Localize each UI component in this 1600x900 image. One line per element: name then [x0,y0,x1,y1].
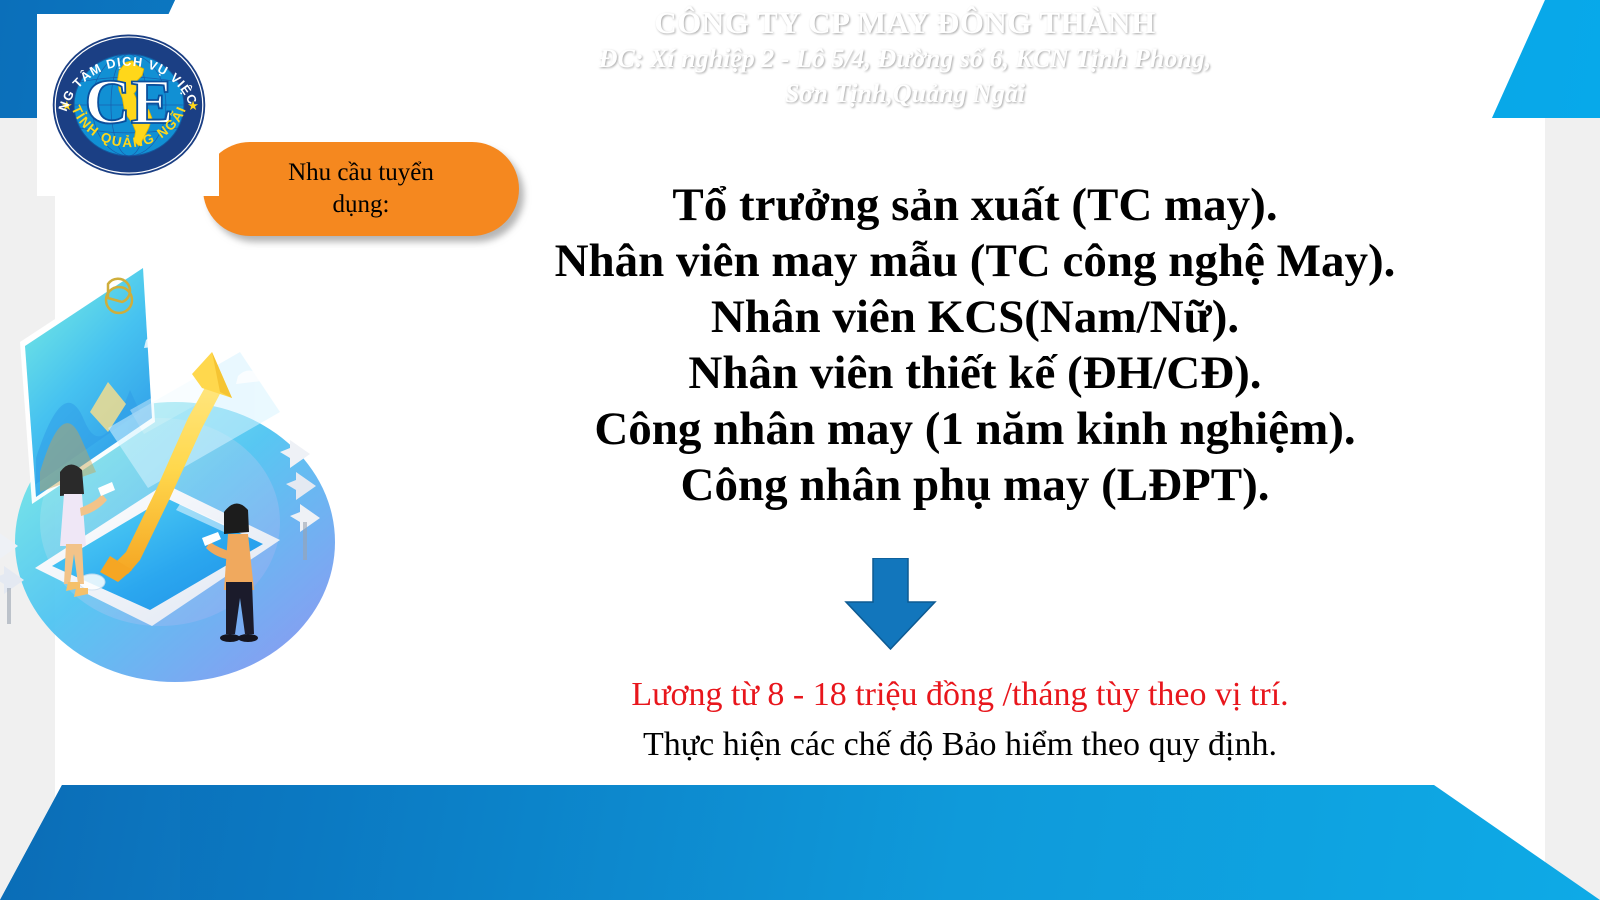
arrow-down-icon [843,558,938,650]
insurance-note: Thực hiện các chế độ Bảo hiểm theo quy đ… [380,722,1540,768]
salary-note: Lương từ 8 - 18 triệu đồng /tháng tùy th… [380,672,1540,718]
conditions-block: Lương từ 8 - 18 triệu đồng /tháng tùy th… [380,672,1540,768]
recruitment-poster: CÔNG TY CP MAY ĐÔNG THÀNH ĐC: Xí nghiệp … [0,0,1600,900]
recruitment-need-badge-label: Nhu cầu tuyển dụng: [270,157,452,221]
job-position-item: Tổ trưởng sản xuất (TC may). [400,178,1550,234]
isometric-growth-illustration [0,222,350,692]
company-name: CÔNG TY CP MAY ĐÔNG THÀNH [330,4,1480,41]
employment-center-logo-icon: CE ★ ★ TRUNG TÂM DỊCH VỤ VIỆC LÀM TỈNH Q… [47,23,211,187]
company-address-line-1: ĐC: Xí nghiệp 2 - Lô 5/4, Đường số 6, KC… [330,43,1480,76]
logo-container: CE ★ ★ TRUNG TÂM DỊCH VỤ VIỆC LÀM TỈNH Q… [37,14,219,196]
job-positions-list: Tổ trưởng sản xuất (TC may). Nhân viên m… [400,178,1550,514]
job-position-item: Nhân viên KCS(Nam/Nữ). [400,290,1550,346]
job-position-item: Công nhân phụ may (LĐPT). [400,458,1550,514]
right-gutter [1545,0,1600,900]
job-position-item: Nhân viên may mẫu (TC công nghệ May). [400,234,1550,290]
footer-band [0,785,1600,900]
badge-line-1: Nhu cầu tuyển [288,159,434,186]
company-address-line-2: Sơn Tịnh,Quảng Ngãi [330,78,1480,111]
header-text-block: CÔNG TY CP MAY ĐÔNG THÀNH ĐC: Xí nghiệp … [330,4,1480,110]
job-position-item: Công nhân may (1 năm kinh nghiệm). [400,402,1550,458]
job-position-item: Nhân viên thiết kế (ĐH/CĐ). [400,346,1550,402]
badge-line-2: dụng: [333,191,390,218]
recruitment-need-badge: Nhu cầu tuyển dụng: [203,142,519,236]
